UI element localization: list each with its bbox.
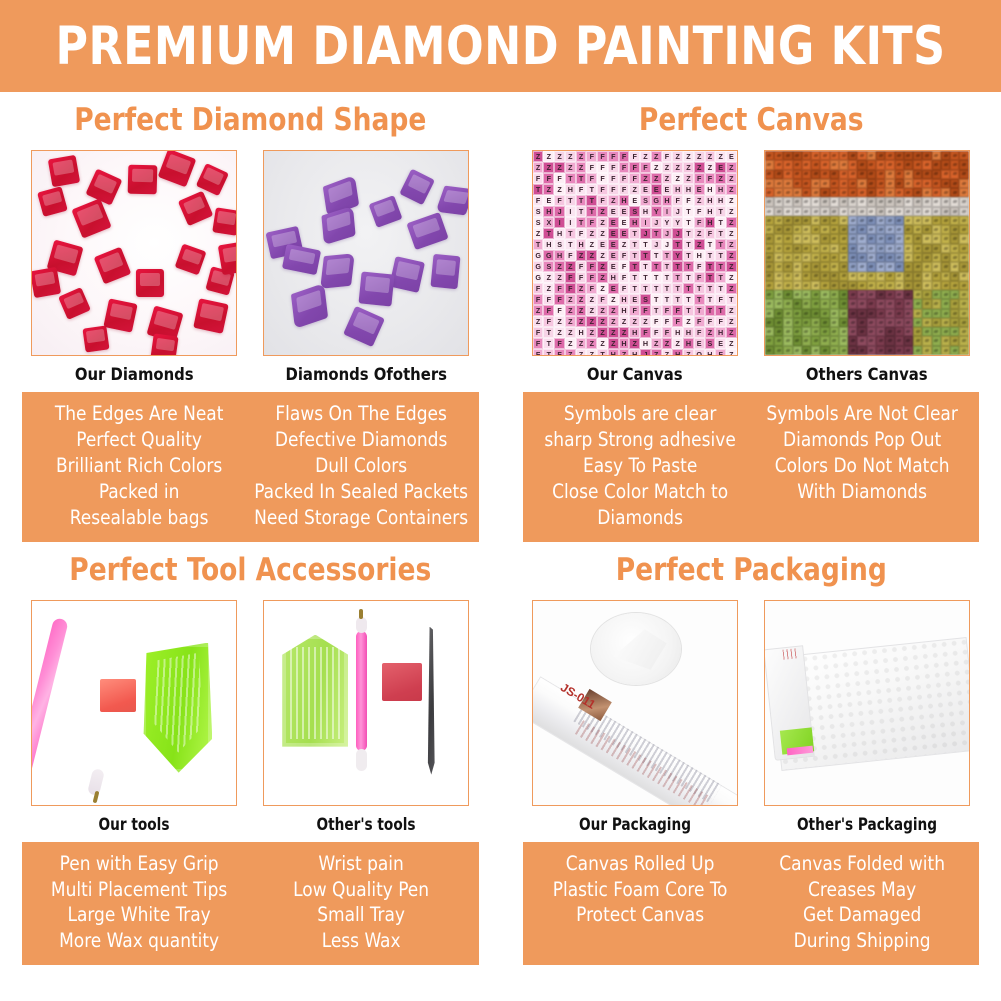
diamond-piece bbox=[399, 169, 435, 206]
canvas-symbol-cell bbox=[802, 207, 811, 216]
canvas-symbol-cell bbox=[932, 216, 941, 225]
canvas-symbol-cell bbox=[904, 179, 913, 188]
canvas-symbol-cell: F bbox=[597, 294, 608, 305]
canvas-symbol-cell bbox=[802, 318, 811, 327]
canvas-symbol-cell bbox=[913, 234, 922, 243]
canvas-symbol-cell: Z bbox=[608, 294, 619, 305]
canvas-symbol-cell: T bbox=[651, 272, 662, 283]
canvas-symbol-cell bbox=[867, 336, 876, 345]
canvas-symbol-cell bbox=[830, 170, 839, 179]
canvas-symbol-cell: F bbox=[629, 151, 640, 162]
canvas-symbol-cell: Z bbox=[629, 316, 640, 327]
compare-cell-others-canvas: Others Canvas bbox=[764, 150, 970, 392]
canvas-symbol-cell bbox=[876, 188, 885, 197]
canvas-symbol-cell bbox=[857, 188, 866, 197]
canvas-symbol-cell: T bbox=[543, 338, 554, 349]
feature-line: Easy To Paste bbox=[532, 453, 748, 479]
canvas-symbol-cell: F bbox=[662, 305, 673, 316]
canvas-symbol-cell bbox=[922, 197, 931, 206]
canvas-symbol-cell bbox=[793, 160, 802, 169]
canvas-symbol-cell bbox=[904, 216, 913, 225]
canvas-symbol-cell: T bbox=[683, 272, 694, 283]
canvas-symbol-cell bbox=[904, 272, 913, 281]
canvas-symbol-cell bbox=[811, 197, 820, 206]
canvas-symbol-cell: F bbox=[533, 349, 544, 356]
canvas-symbol-cell: Z bbox=[726, 228, 737, 239]
feature-line: Packed in bbox=[31, 479, 247, 505]
canvas-symbol-cell: F bbox=[554, 195, 565, 206]
canvas-symbol-cell bbox=[848, 160, 857, 169]
canvas-symbol-cell bbox=[802, 290, 811, 299]
canvas-symbol-cell: Z bbox=[565, 305, 576, 316]
canvas-symbol-cell bbox=[830, 272, 839, 281]
canvas-symbol-cell bbox=[774, 253, 783, 262]
canvas-symbol-cell: T bbox=[705, 250, 716, 261]
canvas-symbol-cell: Z bbox=[608, 305, 619, 316]
canvas-symbol-cell: T bbox=[586, 184, 597, 195]
canvas-symbol-cell bbox=[867, 281, 876, 290]
canvas-symbol-cell bbox=[876, 336, 885, 345]
canvas-symbol-cell bbox=[765, 309, 774, 318]
canvas-symbol-cell: Z bbox=[597, 217, 608, 228]
feature-box-packaging: Canvas Rolled UpPlastic Foam Core ToProt… bbox=[523, 842, 980, 966]
canvas-symbol-cell: E bbox=[597, 239, 608, 250]
feature-box-canvas: Symbols are clearsharp Strong adhesiveEa… bbox=[523, 392, 980, 542]
diamond-piece bbox=[151, 333, 179, 356]
canvas-symbol-cell bbox=[867, 197, 876, 206]
canvas-symbol-cell: H bbox=[619, 195, 630, 206]
canvas-symbol-cell bbox=[839, 188, 848, 197]
canvas-symbol-cell bbox=[895, 207, 904, 216]
pink-symbol-grid-canvas-photo: ZZZZZFFFFFZZFZZZZZEZZZZZFFFFFFZZZZZZEZFF… bbox=[532, 150, 738, 356]
canvas-symbol-cell bbox=[932, 179, 941, 188]
canvas-symbol-cell bbox=[811, 318, 820, 327]
canvas-symbol-cell bbox=[876, 253, 885, 262]
canvas-symbol-cell bbox=[876, 244, 885, 253]
canvas-symbol-cell bbox=[922, 216, 931, 225]
canvas-symbol-cell: Z bbox=[576, 162, 587, 173]
canvas-symbol-cell bbox=[820, 272, 829, 281]
canvas-symbol-cell: F bbox=[694, 173, 705, 184]
small-tray-grooves bbox=[290, 647, 340, 739]
canvas-symbol-cell: F bbox=[619, 151, 630, 162]
canvas-symbol-cell bbox=[885, 346, 894, 355]
canvas-symbol-cell: Z bbox=[705, 327, 716, 338]
canvas-symbol-cell: Z bbox=[694, 239, 705, 250]
canvas-symbol-cell bbox=[932, 327, 941, 336]
canvas-symbol-cell: F bbox=[640, 162, 651, 173]
canvas-symbol-cell bbox=[876, 225, 885, 234]
canvas-symbol-cell bbox=[783, 188, 792, 197]
feature-line: sharp Strong adhesive bbox=[532, 427, 748, 453]
canvas-symbol-cell bbox=[867, 188, 876, 197]
feature-line: Large White Tray bbox=[31, 902, 247, 928]
section-diamond-shape: Perfect Diamond Shape Our Diamonds Diamo… bbox=[0, 92, 501, 542]
canvas-symbol-cell bbox=[913, 272, 922, 281]
canvas-symbol-cell: F bbox=[586, 217, 597, 228]
canvas-symbol-cell bbox=[885, 160, 894, 169]
canvas-symbol-cell bbox=[913, 216, 922, 225]
canvas-symbol-cell bbox=[765, 281, 774, 290]
canvas-symbol-cell bbox=[876, 234, 885, 243]
canvas-symbol-cell bbox=[802, 197, 811, 206]
canvas-symbol-cell: E bbox=[640, 184, 651, 195]
canvas-symbol-cell bbox=[885, 207, 894, 216]
canvas-symbol-cell: Z bbox=[576, 349, 587, 356]
canvas-symbol-cell: F bbox=[662, 316, 673, 327]
canvas-symbol-cell bbox=[839, 234, 848, 243]
pen-needle-icon bbox=[359, 609, 363, 619]
diamond-piece bbox=[213, 207, 238, 235]
canvas-symbol-cell bbox=[941, 253, 950, 262]
white-bubble-mailer-photo bbox=[764, 600, 970, 806]
canvas-symbol-cell: H bbox=[619, 305, 630, 316]
canvas-symbol-cell: T bbox=[651, 305, 662, 316]
canvas-symbol-cell bbox=[793, 309, 802, 318]
canvas-symbol-cell bbox=[876, 272, 885, 281]
canvas-symbol-cell: T bbox=[629, 239, 640, 250]
diamond-piece bbox=[407, 212, 450, 250]
canvas-symbol-cell: H bbox=[705, 349, 716, 356]
canvas-symbol-cell bbox=[811, 179, 820, 188]
canvas-symbol-cell: E bbox=[715, 162, 726, 173]
canvas-symbol-cell bbox=[848, 207, 857, 216]
canvas-symbol-cell bbox=[857, 272, 866, 281]
canvas-symbol-cell bbox=[913, 309, 922, 318]
canvas-symbol-cell: H bbox=[629, 349, 640, 356]
canvas-symbol-cell bbox=[820, 234, 829, 243]
canvas-symbol-cell bbox=[959, 244, 968, 253]
canvas-symbol-cell bbox=[793, 253, 802, 262]
canvas-symbol-cell bbox=[820, 253, 829, 262]
canvas-symbol-cell bbox=[959, 225, 968, 234]
canvas-symbol-cell bbox=[885, 272, 894, 281]
canvas-symbol-cell bbox=[820, 207, 829, 216]
canvas-symbol-cell: T bbox=[705, 294, 716, 305]
canvas-symbol-cell: F bbox=[640, 327, 651, 338]
canvas-symbol-cell: F bbox=[705, 316, 716, 327]
canvas-symbol-cell: Z bbox=[726, 349, 737, 356]
canvas-symbol-cell: Z bbox=[586, 338, 597, 349]
canvas-symbol-cell bbox=[774, 197, 783, 206]
canvas-symbol-cell bbox=[895, 188, 904, 197]
canvas-symbol-cell: T bbox=[640, 261, 651, 272]
canvas-symbol-cell bbox=[765, 262, 774, 271]
canvas-symbol-cell: E bbox=[694, 338, 705, 349]
canvas-symbol-cell bbox=[783, 309, 792, 318]
canvas-symbol-cell: Z bbox=[608, 338, 619, 349]
canvas-symbol-cell: H bbox=[640, 206, 651, 217]
canvas-symbol-cell bbox=[904, 253, 913, 262]
canvas-symbol-cell: F bbox=[629, 173, 640, 184]
canvas-symbol-cell: H bbox=[554, 228, 565, 239]
canvas-symbol-cell: T bbox=[662, 250, 673, 261]
canvas-symbol-cell: Z bbox=[576, 338, 587, 349]
canvas-symbol-cell bbox=[932, 170, 941, 179]
canvas-symbol-cell: Z bbox=[683, 316, 694, 327]
canvas-symbol-cell bbox=[848, 244, 857, 253]
canvas-symbol-cell: Z bbox=[543, 162, 554, 173]
canvas-symbol-cell: S bbox=[629, 206, 640, 217]
canvas-symbol-cell: F bbox=[586, 272, 597, 283]
canvas-symbol-cell bbox=[830, 160, 839, 169]
feature-line: Defective Diamonds bbox=[254, 427, 470, 453]
canvas-symbol-cell bbox=[895, 309, 904, 318]
diamond-piece bbox=[218, 241, 237, 275]
canvas-symbol-cell bbox=[830, 327, 839, 336]
canvas-symbol-cell bbox=[913, 346, 922, 355]
canvas-symbol-cell bbox=[811, 207, 820, 216]
canvas-symbol-cell bbox=[922, 318, 931, 327]
canvas-symbol-cell bbox=[950, 309, 959, 318]
canvas-symbol-cell: F bbox=[543, 173, 554, 184]
canvas-symbol-cell bbox=[830, 318, 839, 327]
canvas-symbol-cell: T bbox=[640, 272, 651, 283]
canvas-symbol-cell bbox=[895, 281, 904, 290]
canvas-symbol-cell bbox=[904, 160, 913, 169]
caption-others-packaging: Other's Packaging bbox=[772, 806, 962, 842]
canvas-symbol-cell: F bbox=[543, 316, 554, 327]
canvas-symbol-cell bbox=[839, 299, 848, 308]
canvas-symbol-cell: Z bbox=[608, 316, 619, 327]
canvas-symbol-cell: Z bbox=[597, 261, 608, 272]
canvas-symbol-cell bbox=[774, 188, 783, 197]
blurry-multicolor-canvas-photo bbox=[764, 150, 970, 356]
canvas-symbol-cell bbox=[820, 262, 829, 271]
canvas-symbol-cell: Z bbox=[726, 173, 737, 184]
canvas-symbol-cell: T bbox=[683, 239, 694, 250]
canvas-symbol-cell: T bbox=[715, 283, 726, 294]
canvas-symbol-cell: F bbox=[629, 305, 640, 316]
canvas-symbol-cell bbox=[885, 327, 894, 336]
image-pair-canvas: ZZZZZFFFFFZZFZZZZZEZZZZZFFFFFFZZZZZZEZFF… bbox=[501, 150, 1001, 392]
canvas-symbol-cell bbox=[774, 281, 783, 290]
canvas-symbol-cell bbox=[867, 262, 876, 271]
caption-our-tools: Our tools bbox=[39, 806, 229, 842]
canvas-symbol-cell: F bbox=[533, 283, 544, 294]
canvas-symbol-cell: T bbox=[651, 283, 662, 294]
section-title-diamond-shape: Perfect Diamond Shape bbox=[13, 92, 488, 150]
canvas-symbol-cell: Z bbox=[565, 327, 576, 338]
canvas-symbol-cell: Z bbox=[586, 305, 597, 316]
canvas-symbol-cell bbox=[922, 160, 931, 169]
canvas-symbol-cell bbox=[950, 318, 959, 327]
canvas-symbol-cell: H bbox=[576, 239, 587, 250]
canvas-symbol-cell bbox=[959, 299, 968, 308]
canvas-symbol-cell bbox=[932, 299, 941, 308]
canvas-symbol-cell: Z bbox=[726, 272, 737, 283]
canvas-symbol-cell bbox=[793, 170, 802, 179]
canvas-symbol-cell: Z bbox=[586, 294, 597, 305]
canvas-symbol-cell bbox=[913, 253, 922, 262]
canvas-symbol-cell bbox=[811, 188, 820, 197]
canvas-symbol-cell: F bbox=[619, 261, 630, 272]
mailer-seal-mark bbox=[782, 648, 797, 659]
diamond-piece bbox=[175, 243, 207, 275]
canvas-symbol-cell bbox=[793, 327, 802, 336]
canvas-symbol-cell: Z bbox=[662, 349, 673, 356]
canvas-symbol-cell bbox=[913, 207, 922, 216]
canvas-symbol-cell bbox=[857, 318, 866, 327]
canvas-symbol-cell: T bbox=[629, 250, 640, 261]
feature-list-others-packaging: Canvas Folded withCreases MayGet Damaged… bbox=[754, 851, 970, 955]
canvas-symbol-cell bbox=[913, 281, 922, 290]
canvas-symbol-cell bbox=[941, 188, 950, 197]
canvas-symbol-cell: J bbox=[640, 228, 651, 239]
canvas-symbol-cell bbox=[848, 188, 857, 197]
canvas-symbol-cell bbox=[783, 281, 792, 290]
canvas-symbol-cell: S bbox=[533, 206, 544, 217]
canvas-symbol-cell bbox=[922, 281, 931, 290]
canvas-symbol-cell bbox=[793, 234, 802, 243]
canvas-symbol-cell bbox=[922, 299, 931, 308]
canvas-symbol-cell bbox=[913, 170, 922, 179]
canvas-symbol-cell: T bbox=[640, 283, 651, 294]
canvas-symbol-cell: T bbox=[576, 173, 587, 184]
canvas-symbol-cell bbox=[848, 234, 857, 243]
diamond-piece bbox=[94, 247, 132, 285]
canvas-symbol-cell bbox=[857, 336, 866, 345]
canvas-symbol-cell bbox=[848, 262, 857, 271]
canvas-symbol-cell bbox=[885, 216, 894, 225]
canvas-symbol-cell: T bbox=[576, 217, 587, 228]
canvas-symbol-cell: F bbox=[608, 173, 619, 184]
canvas-symbol-cell: E bbox=[608, 250, 619, 261]
canvas-symbol-cell: F bbox=[629, 162, 640, 173]
canvas-symbol-cell bbox=[830, 336, 839, 345]
canvas-symbol-cell bbox=[959, 170, 968, 179]
feature-line: Pen with Easy Grip bbox=[31, 851, 247, 877]
canvas-symbol-cell: Z bbox=[705, 151, 716, 162]
canvas-symbol-cell: Z bbox=[554, 327, 565, 338]
canvas-symbol-cell bbox=[904, 188, 913, 197]
canvas-symbol-cell bbox=[774, 234, 783, 243]
canvas-symbol-cell bbox=[848, 170, 857, 179]
canvas-symbol-cell: I bbox=[565, 206, 576, 217]
canvas-symbol-cell bbox=[876, 281, 885, 290]
canvas-symbol-cell bbox=[802, 336, 811, 345]
canvas-symbol-cell bbox=[857, 179, 866, 188]
canvas-symbol-cell bbox=[857, 346, 866, 355]
canvas-symbol-cell bbox=[959, 281, 968, 290]
canvas-symbol-cell bbox=[811, 151, 820, 160]
canvas-symbol-cell bbox=[811, 346, 820, 355]
diamond-piece bbox=[72, 198, 112, 238]
canvas-symbol-cell: T bbox=[597, 349, 608, 356]
compare-cell-others-packaging: Other's Packaging bbox=[764, 600, 970, 842]
canvas-symbol-cell: T bbox=[715, 228, 726, 239]
canvas-symbol-cell: T bbox=[705, 239, 716, 250]
canvas-symbol-cell bbox=[867, 327, 876, 336]
canvas-symbol-cell: E bbox=[543, 195, 554, 206]
canvas-symbol-cell bbox=[783, 327, 792, 336]
canvas-symbol-cell bbox=[922, 244, 931, 253]
canvas-symbol-cell bbox=[765, 216, 774, 225]
canvas-symbol-cell: Z bbox=[554, 184, 565, 195]
canvas-symbol-cell bbox=[904, 346, 913, 355]
canvas-symbol-cell bbox=[820, 160, 829, 169]
canvas-symbol-cell bbox=[867, 160, 876, 169]
canvas-symbol-cell: I bbox=[640, 217, 651, 228]
canvas-symbol-cell bbox=[895, 216, 904, 225]
canvas-symbol-cell bbox=[895, 299, 904, 308]
diamond-piece bbox=[436, 186, 469, 216]
canvas-symbol-cell: T bbox=[715, 206, 726, 217]
canvas-symbol-cell bbox=[830, 197, 839, 206]
canvas-symbol-cell bbox=[950, 160, 959, 169]
canvas-symbol-cell bbox=[950, 336, 959, 345]
canvas-symbol-cell: T bbox=[565, 228, 576, 239]
canvas-symbol-cell bbox=[941, 216, 950, 225]
canvas-symbol-cell bbox=[802, 262, 811, 271]
canvas-symbol-cell bbox=[904, 336, 913, 345]
canvas-symbol-cell bbox=[904, 225, 913, 234]
canvas-symbol-cell: Z bbox=[672, 162, 683, 173]
canvas-symbol-cell bbox=[765, 234, 774, 243]
canvas-symbol-cell: T bbox=[651, 294, 662, 305]
canvas-symbol-cell bbox=[876, 346, 885, 355]
canvas-symbol-cell: Z bbox=[565, 294, 576, 305]
caption-others-canvas: Others Canvas bbox=[764, 356, 970, 392]
canvas-symbol-cell: H bbox=[715, 184, 726, 195]
canvas-symbol-cell bbox=[867, 234, 876, 243]
canvas-symbol-cell bbox=[876, 207, 885, 216]
canvas-symbol-cell bbox=[848, 318, 857, 327]
canvas-symbol-cell: Z bbox=[726, 162, 737, 173]
canvas-symbol-cell: F bbox=[694, 206, 705, 217]
canvas-symbol-cell: F bbox=[543, 305, 554, 316]
canvas-symbol-cell bbox=[913, 151, 922, 160]
canvas-symbol-cell: H bbox=[683, 184, 694, 195]
canvas-symbol-cell: F bbox=[576, 184, 587, 195]
feature-line: Brilliant Rich Colors bbox=[31, 453, 247, 479]
canvas-symbol-cell bbox=[765, 244, 774, 253]
canvas-symbol-cell: F bbox=[533, 173, 544, 184]
canvas-symbol-cell bbox=[839, 179, 848, 188]
canvas-symbol-cell bbox=[941, 346, 950, 355]
canvas-symbol-cell bbox=[950, 197, 959, 206]
canvas-symbol-cell bbox=[811, 327, 820, 336]
canvas-symbol-cell bbox=[932, 290, 941, 299]
canvas-symbol-cell bbox=[885, 234, 894, 243]
canvas-symbol-cell: Z bbox=[726, 327, 737, 338]
canvas-symbol-cell: E bbox=[694, 184, 705, 195]
canvas-symbol-cell bbox=[867, 244, 876, 253]
feature-line: Get Damaged bbox=[754, 902, 970, 928]
canvas-symbol-cell bbox=[895, 170, 904, 179]
canvas-symbol-cell bbox=[783, 179, 792, 188]
canvas-symbol-cell bbox=[857, 197, 866, 206]
canvas-symbol-cell bbox=[941, 327, 950, 336]
feature-line: Resealable bags bbox=[31, 505, 247, 531]
canvas-symbol-cell bbox=[922, 179, 931, 188]
canvas-symbol-cell: Z bbox=[597, 272, 608, 283]
feature-line: Low Quality Pen bbox=[254, 877, 470, 903]
canvas-symbol-cell bbox=[811, 216, 820, 225]
canvas-symbol-cell: G bbox=[533, 272, 544, 283]
canvas-symbol-cell: I bbox=[565, 217, 576, 228]
canvas-symbol-cell: Z bbox=[726, 316, 737, 327]
canvas-symbol-cell bbox=[793, 299, 802, 308]
canvas-symbol-cell bbox=[802, 299, 811, 308]
canvas-symbol-cell bbox=[941, 309, 950, 318]
canvas-symbol-cell bbox=[950, 327, 959, 336]
canvas-symbol-cell bbox=[793, 151, 802, 160]
canvas-symbol-cell: F bbox=[533, 338, 544, 349]
canvas-symbol-cell: T bbox=[726, 294, 737, 305]
canvas-symbol-cell: G bbox=[533, 250, 544, 261]
canvas-symbol-cell: F bbox=[672, 195, 683, 206]
